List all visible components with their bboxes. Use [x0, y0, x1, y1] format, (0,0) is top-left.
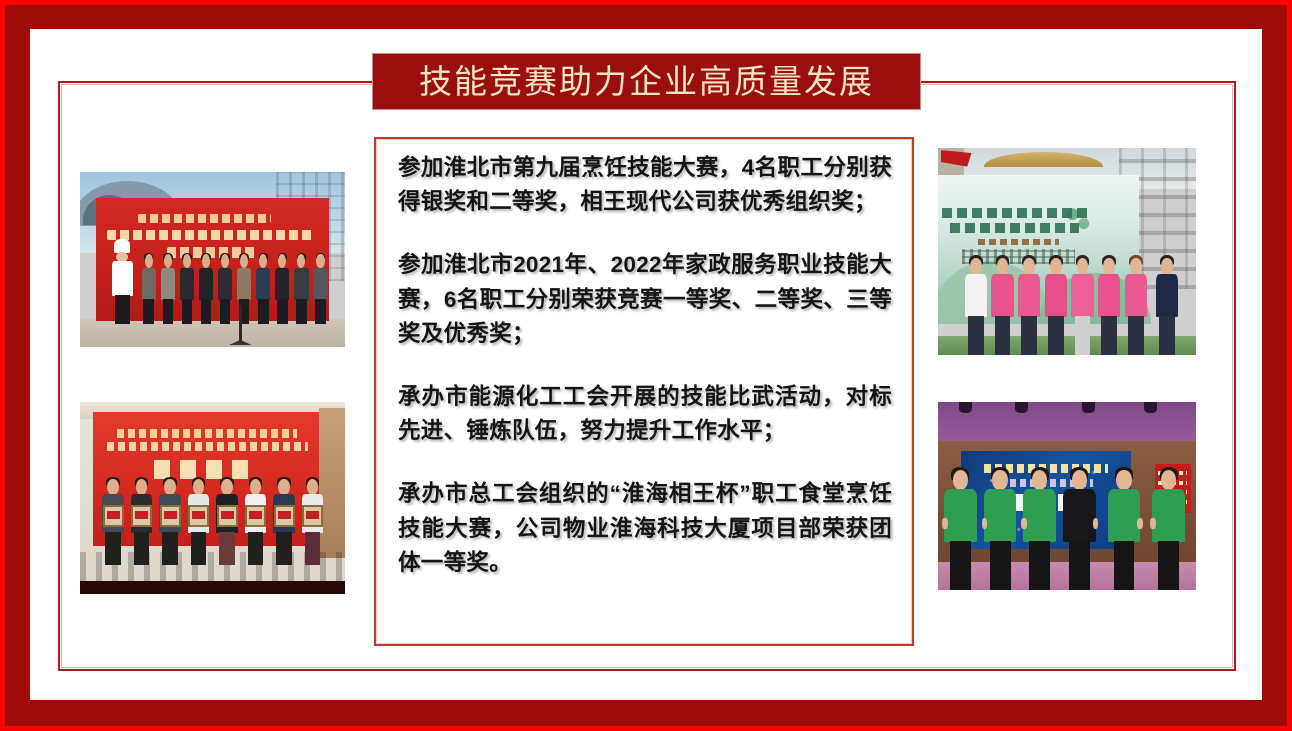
photo-third-housekeeping-skills-contest [938, 402, 1196, 590]
photo-award-ceremony-indoor [80, 402, 345, 594]
frame-band-left [5, 5, 30, 726]
body-text-box: 参加淮北市第九届烹饪技能大赛，4名职工分别获得银奖和二等奖，相王现代公司获优秀组… [374, 137, 914, 646]
outer-edge-right [1287, 0, 1292, 731]
photo-4-content [938, 402, 1196, 590]
photo-2-content [80, 402, 345, 594]
photo-housekeeping-training-group [938, 148, 1196, 355]
photo-outdoor-cooking-contest-opening [80, 172, 345, 347]
outer-edge-bottom [0, 726, 1292, 731]
frame-band-bottom [5, 700, 1287, 726]
slide-root: 技能竞赛助力企业高质量发展 参加淮北市第九届烹饪技能大赛，4名职工分别获得银奖和… [0, 0, 1292, 731]
body-paragraph-1: 参加淮北市第九届烹饪技能大赛，4名职工分别获得银奖和二等奖，相王现代公司获优秀组… [398, 151, 892, 219]
title-banner: 技能竞赛助力企业高质量发展 [372, 53, 921, 110]
body-paragraph-4: 承办市总工会组织的“淮海相王杯”职工食堂烹饪技能大赛，公司物业淮海科技大厦项目部… [398, 477, 892, 580]
page-title: 技能竞赛助力企业高质量发展 [419, 65, 874, 98]
photo-1-content [80, 172, 345, 347]
body-paragraph-3: 承办市能源化工工会开展的技能比武活动，对标先进、锤炼队伍，努力提升工作水平； [398, 380, 892, 448]
photo-3-content [938, 148, 1196, 355]
frame-band-top [5, 5, 1287, 29]
body-paragraph-2: 参加淮北市2021年、2022年家政服务职业技能大赛，6名职工分别荣获竞赛一等奖… [398, 248, 892, 351]
frame-band-right [1262, 5, 1287, 726]
